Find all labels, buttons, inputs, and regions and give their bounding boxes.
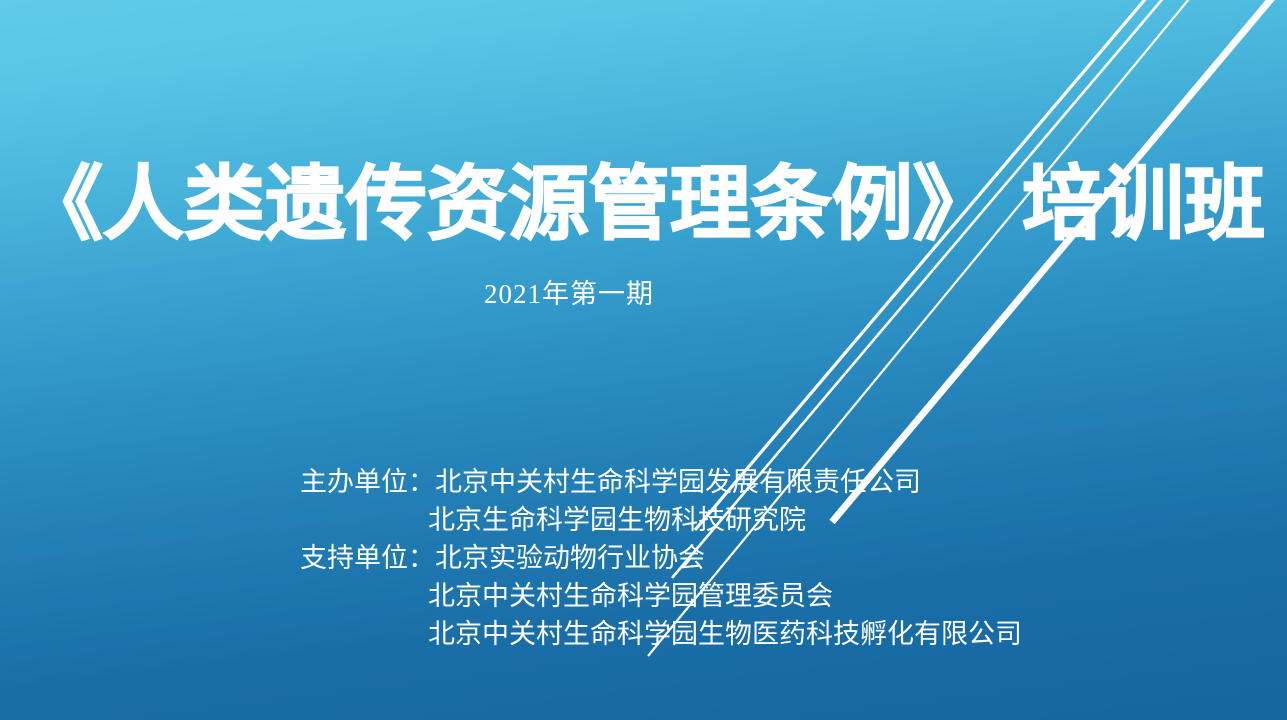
diagonal-line-thin-1	[695, 0, 1287, 530]
credit-line-organizer-2: 北京生命科学园生物科技研究院	[300, 501, 1022, 539]
credit-line-organizer-1: 主办单位：北京中关村生命科学园发展有限责任公司	[300, 463, 1022, 501]
presentation-slide: 《人类遗传资源管理条例》 培训班 2021年第一期 主办单位：北京中关村生命科学…	[0, 0, 1287, 720]
slide-title: 《人类遗传资源管理条例》 培训班	[0, 155, 1287, 255]
credit-line-supporter-3: 北京中关村生命科学园生物医药科技孵化有限公司	[300, 615, 1022, 653]
slide-subtitle: 2021年第一期	[0, 277, 1138, 311]
credit-line-supporter-2: 北京中关村生命科学园管理委员会	[300, 577, 1022, 615]
diagonal-line-thick	[832, 0, 1287, 522]
credit-line-supporter-1: 支持单位：北京实验动物行业协会	[300, 539, 1022, 577]
credits-block: 主办单位：北京中关村生命科学园发展有限责任公司 北京生命科学园生物科技研究院 支…	[300, 463, 1022, 653]
